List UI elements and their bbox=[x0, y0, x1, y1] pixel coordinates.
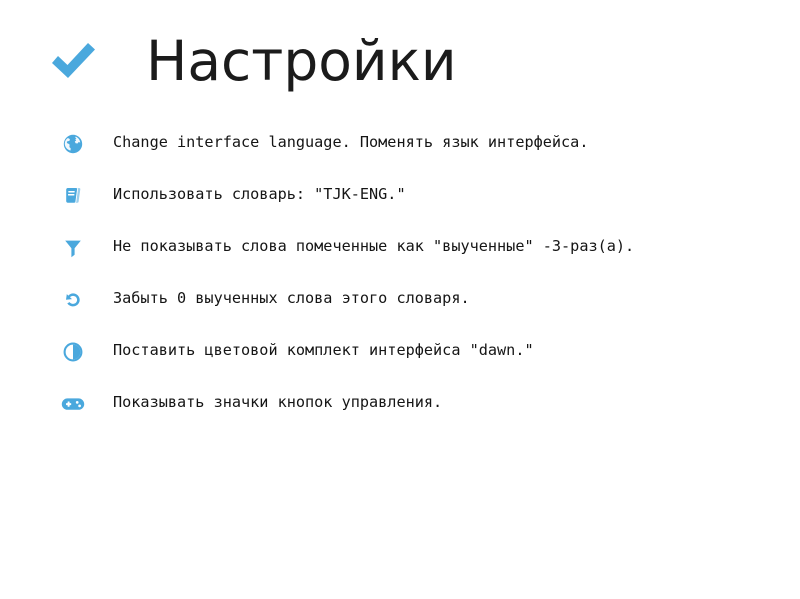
setting-label: Использовать словарь: "TJK-ENG." bbox=[113, 183, 406, 205]
settings-page: Настройки Change interface language. Пом… bbox=[0, 0, 800, 599]
page-header: Настройки bbox=[0, 22, 800, 102]
setting-label: Забыть 0 выученных слова этого словаря. bbox=[113, 287, 470, 309]
gamepad-icon[interactable] bbox=[50, 391, 96, 416]
setting-row-language[interactable]: Change interface language. Поменять язык… bbox=[0, 131, 800, 183]
page-title: Настройки bbox=[146, 33, 457, 91]
setting-label: Показывать значки кнопок управления. bbox=[113, 391, 442, 413]
globe-icon[interactable] bbox=[50, 131, 96, 156]
setting-row-hide-learned[interactable]: Не показывать слова помеченные как "выуч… bbox=[0, 235, 800, 287]
setting-label: Не показывать слова помеченные как "выуч… bbox=[113, 235, 634, 257]
book-icon[interactable] bbox=[50, 183, 96, 208]
setting-label: Change interface language. Поменять язык… bbox=[113, 131, 588, 153]
contrast-icon[interactable] bbox=[50, 339, 96, 364]
setting-row-dictionary[interactable]: Использовать словарь: "TJK-ENG." bbox=[0, 183, 800, 235]
setting-row-forget-learned[interactable]: Забыть 0 выученных слова этого словаря. bbox=[0, 287, 800, 339]
filter-icon[interactable] bbox=[50, 235, 96, 260]
setting-label: Поставить цветовой комплект интерфейса "… bbox=[113, 339, 534, 361]
setting-row-show-button-icons[interactable]: Показывать значки кнопок управления. bbox=[0, 391, 800, 443]
undo-icon[interactable] bbox=[50, 287, 96, 312]
check-icon bbox=[45, 41, 101, 83]
setting-row-color-scheme[interactable]: Поставить цветовой комплект интерфейса "… bbox=[0, 339, 800, 391]
settings-list: Change interface language. Поменять язык… bbox=[0, 131, 800, 443]
